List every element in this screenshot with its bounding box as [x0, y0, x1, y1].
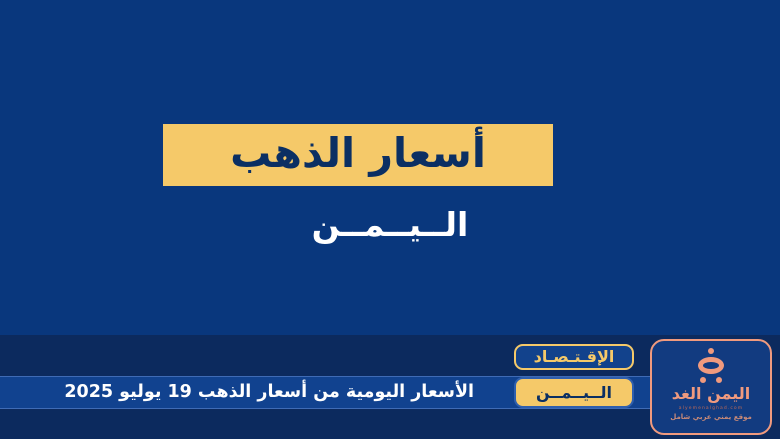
- logo-dot-bottom-left: [700, 377, 706, 383]
- logo-ring-shape: [698, 357, 724, 374]
- logo-brand-name: اليمن الغد: [672, 386, 750, 402]
- logo-dot-bottom-right: [716, 377, 722, 383]
- logo-mark-icon: [691, 348, 731, 384]
- logo-panel[interactable]: اليمن الغد alyemenalghad.com موقع يمني ع…: [650, 339, 772, 435]
- country-badge-yemen[interactable]: الــيــمــن: [514, 377, 634, 408]
- page-title: أسعار الذهب: [230, 133, 486, 174]
- logo-website-url: alyemenalghad.com: [679, 406, 744, 411]
- bottom-bar: الأسعار اليومية من أسعار الذهب 19 يوليو …: [0, 335, 780, 439]
- category-badge-economy[interactable]: الإقـتـصـاد: [514, 344, 634, 370]
- news-graphic: أسعار الذهب الــيــمــن الأسعار اليومية …: [0, 0, 780, 439]
- hero-subtitle: الــيــمــن: [0, 205, 780, 244]
- title-banner: أسعار الذهب: [163, 124, 553, 186]
- logo-tagline: موقع يمني عربي شامل: [670, 413, 752, 421]
- logo-dot-top: [708, 348, 714, 354]
- hero-section: أسعار الذهب الــيــمــن: [0, 0, 780, 335]
